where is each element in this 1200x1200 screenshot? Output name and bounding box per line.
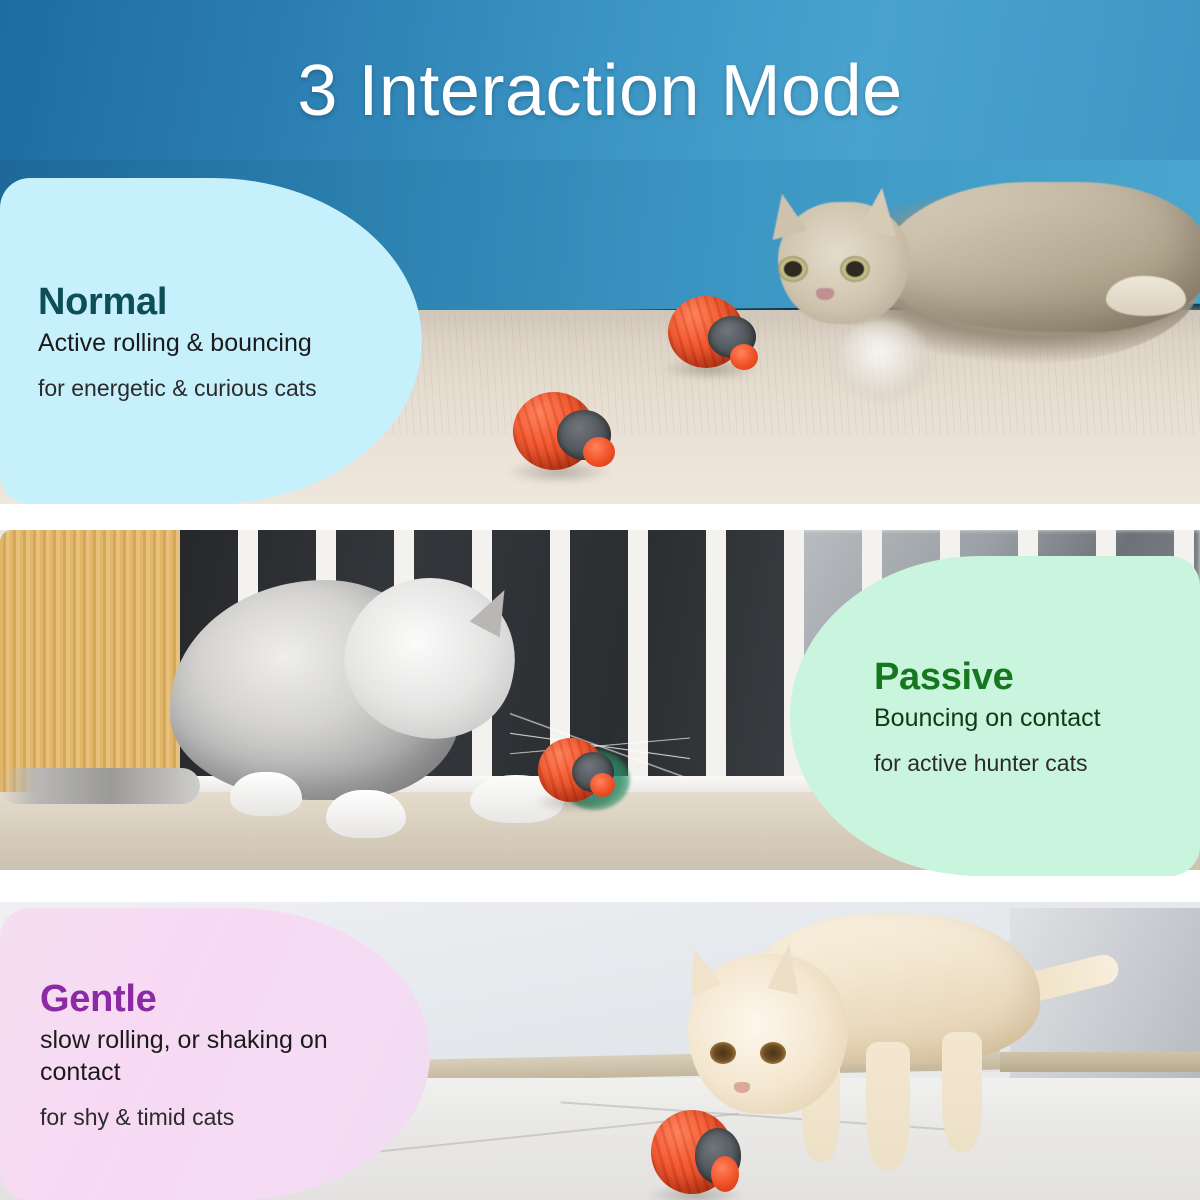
cat-tail <box>0 768 200 804</box>
mode-title-passive: Passive <box>874 654 1166 700</box>
ball-wheel-center <box>583 437 615 467</box>
mode-note-passive: for active hunter cats <box>874 748 1166 778</box>
cat-eye-right <box>760 1042 786 1064</box>
cat-paw <box>1106 276 1186 316</box>
mode-subtitle-passive: Bouncing on contact <box>874 702 1166 734</box>
mode-subtitle-normal: Active rolling & bouncing <box>38 327 352 359</box>
mode-note-normal: for energetic & curious cats <box>38 373 352 403</box>
cat-paw-left <box>230 772 302 816</box>
mode-card-normal: Normal Active rolling & bouncing for ene… <box>0 178 422 504</box>
mode-note-gentle: for shy & timid cats <box>40 1102 354 1132</box>
cat-ear-right <box>858 185 903 237</box>
cat-ball-toy <box>668 296 744 368</box>
motion-blur-highlight <box>838 320 930 400</box>
cat-paw-middle <box>326 790 406 838</box>
page-title: 3 Interaction Mode <box>0 48 1200 134</box>
cat-ball-toy <box>651 1110 733 1194</box>
cat-leg-middle <box>866 1042 910 1170</box>
mode-card-gentle: Gentle slow rolling, or shaking on conta… <box>0 908 430 1200</box>
mode-card-passive: Passive Bouncing on contact for active h… <box>790 556 1200 876</box>
cat-eye-left <box>710 1042 736 1064</box>
cat-silver-tabby <box>780 164 1200 364</box>
mode-subtitle-gentle: slow rolling, or shaking on contact <box>40 1024 354 1088</box>
header-banner: 3 Interaction Mode <box>0 0 1200 180</box>
ball-wheel-center <box>711 1156 739 1192</box>
ball-wheel-ring <box>557 410 611 460</box>
mode-title-gentle: Gentle <box>40 976 354 1022</box>
cat-grey-white <box>130 560 550 840</box>
mode-title-normal: Normal <box>38 279 352 325</box>
cat-ball-toy <box>538 738 604 802</box>
infographic-page: 3 Interaction Mode <box>0 0 1200 1200</box>
cat-nose <box>816 288 834 300</box>
cat-eye-right <box>840 256 870 282</box>
ball-wheel-center <box>590 773 615 797</box>
cat-ball-toy <box>513 392 595 470</box>
cat-leg-back <box>942 1032 982 1152</box>
ball-wheel-ring <box>572 752 614 792</box>
cat-eye-left <box>778 256 808 282</box>
cat-nose <box>734 1082 750 1093</box>
ball-wheel-ring <box>695 1128 741 1184</box>
ball-wheel-ring <box>708 316 756 358</box>
ball-wheel-center <box>730 344 758 370</box>
